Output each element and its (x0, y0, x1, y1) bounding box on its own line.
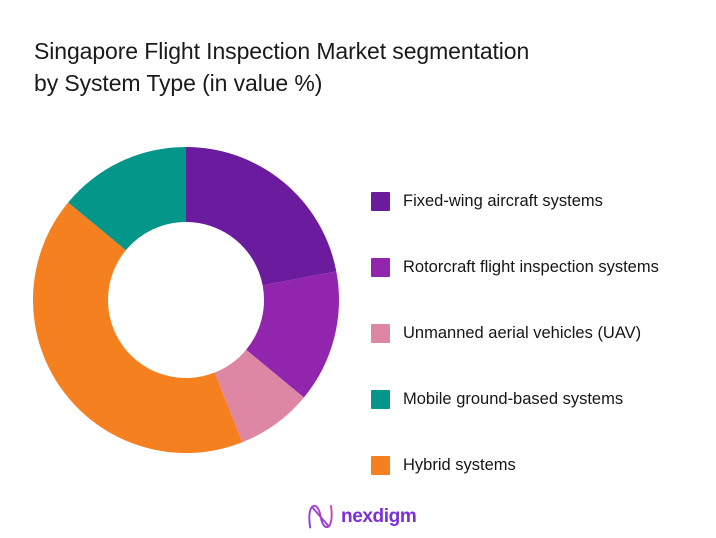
legend-item[interactable]: Unmanned aerial vehicles (UAV) (371, 322, 716, 344)
legend-color-swatch (371, 390, 390, 409)
donut-slice[interactable]: Fixed-wing aircraft systems: 22% (186, 147, 336, 285)
nexdigm-wave-mark-icon (307, 504, 334, 529)
chart-legend: Fixed-wing aircraft systemsRotorcraft fl… (371, 190, 716, 476)
legend-color-swatch (371, 324, 390, 343)
donut-chart: Fixed-wing aircraft systems: 22%Rotorcra… (33, 147, 339, 453)
donut-chart-svg: Fixed-wing aircraft systems: 22%Rotorcra… (33, 147, 339, 453)
donut-slice-group: Fixed-wing aircraft systems: 22%Rotorcra… (33, 147, 339, 453)
legend-color-swatch (371, 456, 390, 475)
legend-item-label: Unmanned aerial vehicles (UAV) (403, 323, 641, 343)
chart-page: Singapore Flight Inspection Market segme… (0, 0, 716, 538)
legend-color-swatch (371, 192, 390, 211)
legend-item[interactable]: Fixed-wing aircraft systems (371, 190, 716, 212)
brand-logo: nexdigm (307, 503, 416, 529)
legend-item[interactable]: Rotorcraft flight inspection systems (371, 256, 716, 278)
legend-color-swatch (371, 258, 390, 277)
brand-wordmark: nexdigm (341, 507, 416, 526)
legend-item-label: Mobile ground-based systems (403, 389, 623, 409)
legend-item[interactable]: Mobile ground-based systems (371, 388, 716, 410)
legend-item-label: Fixed-wing aircraft systems (403, 191, 603, 211)
page-title: Singapore Flight Inspection Market segme… (34, 35, 674, 99)
legend-item-label: Rotorcraft flight inspection systems (403, 257, 659, 277)
legend-item[interactable]: Hybrid systems (371, 454, 716, 476)
legend-item-label: Hybrid systems (403, 455, 516, 475)
donut-slice[interactable]: Hybrid systems: 42% (33, 202, 242, 453)
